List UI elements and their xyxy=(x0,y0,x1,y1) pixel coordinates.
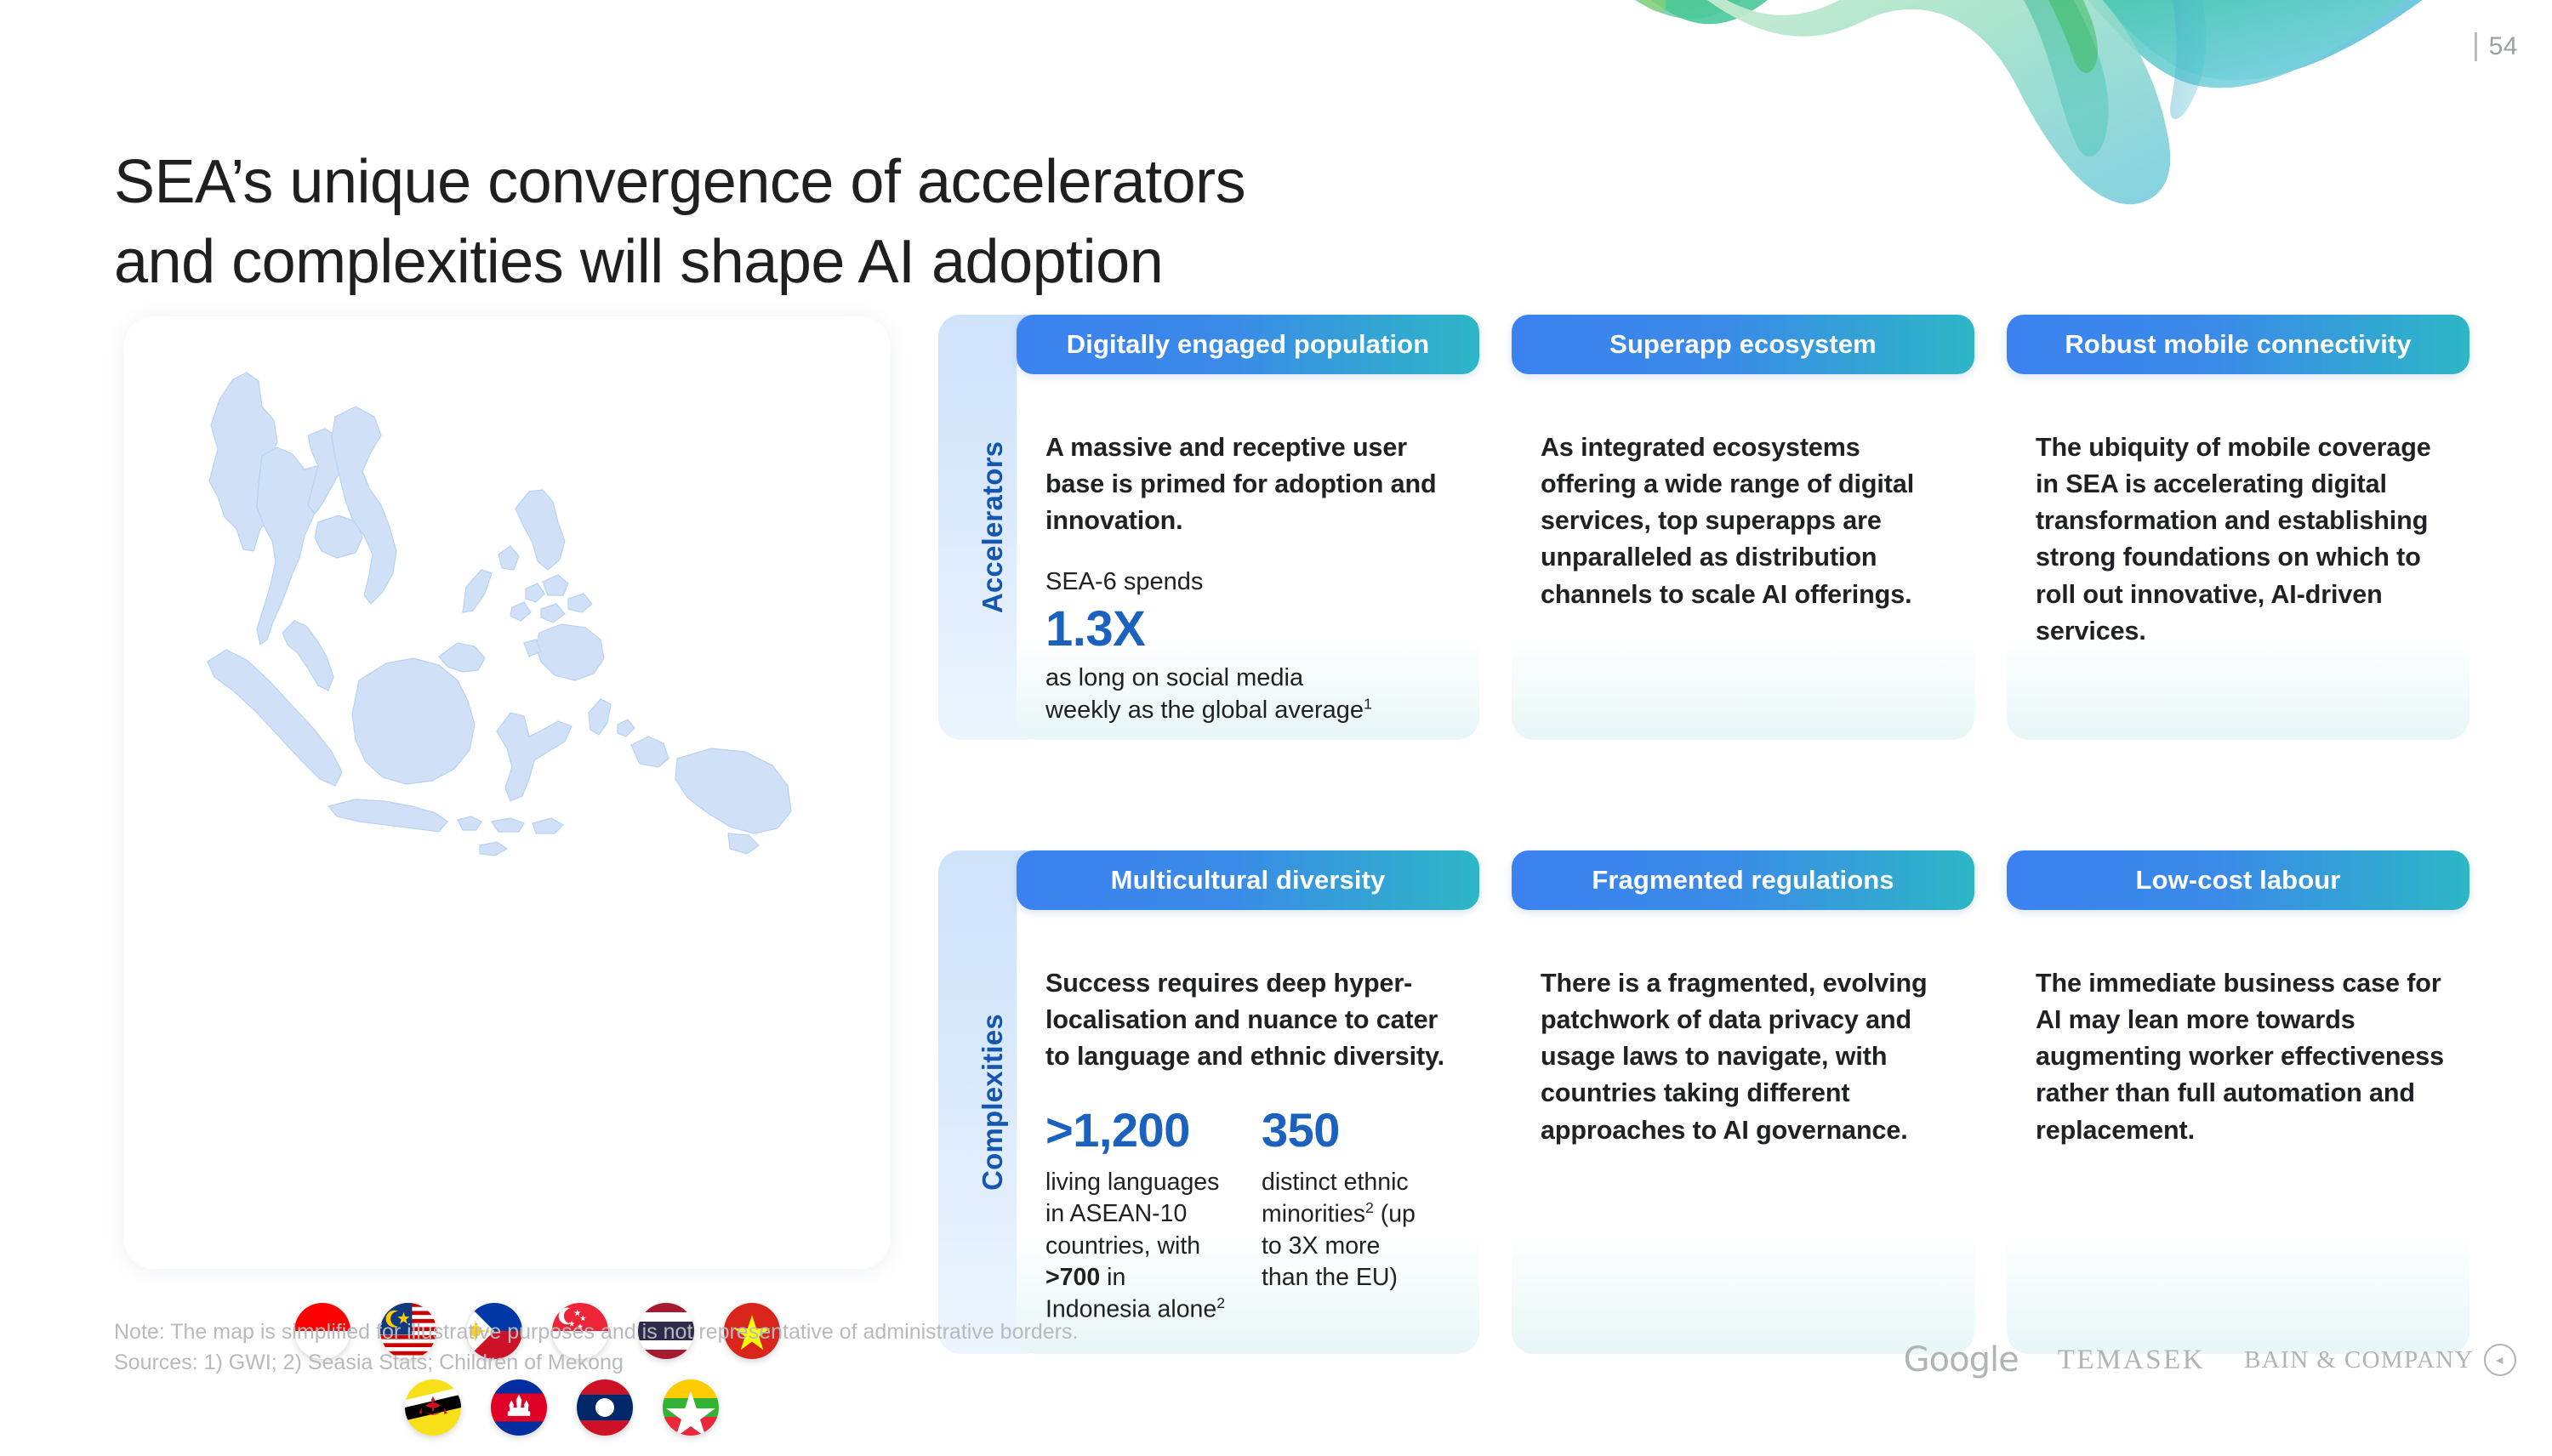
page-number-divider xyxy=(2475,32,2477,61)
stat-caption: as long on social media weekly as the gl… xyxy=(1045,662,1454,727)
flag-myanmar-icon xyxy=(663,1379,719,1436)
card-multicultural-diversity[interactable]: Multicultural diversity Success requires… xyxy=(1017,850,1479,1354)
card-header-label: Fragmented regulations xyxy=(1592,865,1894,896)
row-accelerators: Accelerators Digitally engaged populatio… xyxy=(938,315,2469,740)
bain-mark-icon: ◂ xyxy=(2484,1344,2516,1376)
stat-caption-line-1: as long on social media xyxy=(1045,664,1303,691)
card-header-label: Superapp ecosystem xyxy=(1609,329,1877,360)
page-title-line-1: SEA’s unique convergence of accelerators xyxy=(114,148,1245,216)
card-low-cost-labour[interactable]: Low-cost labour The immediate business c… xyxy=(2007,850,2469,1354)
card-lead-text: The immediate business case for AI may l… xyxy=(2036,965,2444,1149)
bain-logo-text: BAIN & COMPANY xyxy=(2244,1346,2474,1374)
card-body: A massive and receptive user base is pri… xyxy=(1017,374,1479,727)
page-number: 54 xyxy=(2475,32,2518,61)
card-digitally-engaged-population[interactable]: Digitally engaged population A massive a… xyxy=(1017,315,1479,740)
row-accelerators-cards: Digitally engaged population A massive a… xyxy=(1017,315,2469,740)
stat-caption-part-a: living languages in ASEAN-10 countries, … xyxy=(1045,1169,1219,1260)
stat-columns: >1,200 living languages in ASEAN-10 coun… xyxy=(1045,1101,1454,1326)
card-body: As integrated ecosystems offering a wide… xyxy=(1512,374,1974,613)
flag-laos-icon xyxy=(577,1379,633,1436)
card-lead-text: As integrated ecosystems offering a wide… xyxy=(1541,429,1949,613)
footnote-marker: 2 xyxy=(1216,1294,1225,1311)
card-header: Multicultural diversity xyxy=(1017,850,1479,910)
flag-cambodia-icon xyxy=(491,1379,547,1436)
stat-value: 350 xyxy=(1262,1103,1423,1158)
stat-prefix: SEA-6 spends xyxy=(1045,566,1454,599)
card-header: Fragmented regulations xyxy=(1512,850,1974,910)
flag-row-2 xyxy=(405,1379,907,1436)
rail-label-complexities: Complexities xyxy=(977,1014,1009,1191)
stat-caption: living languages in ASEAN-10 countries, … xyxy=(1045,1167,1233,1326)
card-body: The immediate business case for AI may l… xyxy=(2007,910,2469,1149)
card-header: Robust mobile connectivity xyxy=(2007,315,2469,374)
footnote-note: Note: The map is simplified for illustra… xyxy=(114,1317,1078,1347)
rail-label-accelerators: Accelerators xyxy=(977,441,1009,613)
card-fragmented-regulations[interactable]: Fragmented regulations There is a fragme… xyxy=(1512,850,1974,1354)
google-logo: Google xyxy=(1904,1340,2019,1379)
southeast-asia-map xyxy=(158,347,856,942)
card-body: The ubiquity of mobile coverage in SEA i… xyxy=(2007,374,2469,650)
card-header-label: Multicultural diversity xyxy=(1111,865,1386,896)
page-title-line-2: and complexities will shape AI adoption xyxy=(114,223,1560,303)
row-complexities: Complexities Multicultural diversity Suc… xyxy=(938,850,2469,1354)
footnote-marker: 1 xyxy=(1364,696,1372,713)
page-number-value: 54 xyxy=(2489,32,2518,61)
card-lead-text: A massive and receptive user base is pri… xyxy=(1045,429,1454,540)
bain-logo: BAIN & COMPANY ◂ xyxy=(2244,1344,2516,1376)
flag-brunei-icon xyxy=(405,1379,461,1436)
map-card xyxy=(124,316,890,1269)
card-header-label: Low-cost labour xyxy=(2136,865,2341,896)
stat-column-languages: >1,200 living languages in ASEAN-10 coun… xyxy=(1045,1101,1233,1326)
card-header-label: Digitally engaged population xyxy=(1067,329,1429,360)
footnote-sources: Sources: 1) GWI; 2) Seasia Stats; Childr… xyxy=(114,1347,1078,1378)
card-lead-text: There is a fragmented, evolving patchwor… xyxy=(1541,965,1949,1149)
card-body: Success requires deep hyper-localisation… xyxy=(1017,910,1479,1326)
card-header: Low-cost labour xyxy=(2007,850,2469,910)
card-lead-text: The ubiquity of mobile coverage in SEA i… xyxy=(2036,429,2444,651)
footnote-block: Note: The map is simplified for illustra… xyxy=(114,1317,1078,1379)
card-robust-mobile-connectivity[interactable]: Robust mobile connectivity The ubiquity … xyxy=(2007,315,2469,740)
card-header-label: Robust mobile connectivity xyxy=(2065,329,2411,360)
card-body: There is a fragmented, evolving patchwor… xyxy=(1512,910,1974,1149)
accelerators-complexities-grid: Accelerators Digitally engaged populatio… xyxy=(938,315,2469,1276)
stat-caption-emphasis: >700 xyxy=(1045,1264,1100,1291)
card-lead-text: Success requires deep hyper-localisation… xyxy=(1045,965,1454,1076)
card-header: Superapp ecosystem xyxy=(1512,315,1974,374)
row-complexities-cards: Multicultural diversity Success requires… xyxy=(1017,850,2469,1354)
footnote-marker: 2 xyxy=(1365,1199,1374,1216)
stat-caption: distinct ethnic minorities2 (up to 3X mo… xyxy=(1262,1167,1423,1294)
stat-value: >1,200 xyxy=(1045,1103,1233,1158)
page-title: SEA’s unique convergence of accelerators… xyxy=(114,143,1560,302)
temasek-logo: TEMASEK xyxy=(2058,1345,2205,1376)
stat-column-ethnic-minorities: 350 distinct ethnic minorities2 (up to 3… xyxy=(1262,1101,1423,1326)
partner-logos: Google TEMASEK BAIN & COMPANY ◂ xyxy=(1904,1340,2516,1379)
stat-caption-line-2: weekly as the global average xyxy=(1045,697,1364,724)
stat-value: 1.3X xyxy=(1045,600,1454,657)
stat-block: SEA-6 spends 1.3X as long on social medi… xyxy=(1045,566,1454,727)
card-superapp-ecosystem[interactable]: Superapp ecosystem As integrated ecosyst… xyxy=(1512,315,1974,740)
card-header: Digitally engaged population xyxy=(1017,315,1479,374)
